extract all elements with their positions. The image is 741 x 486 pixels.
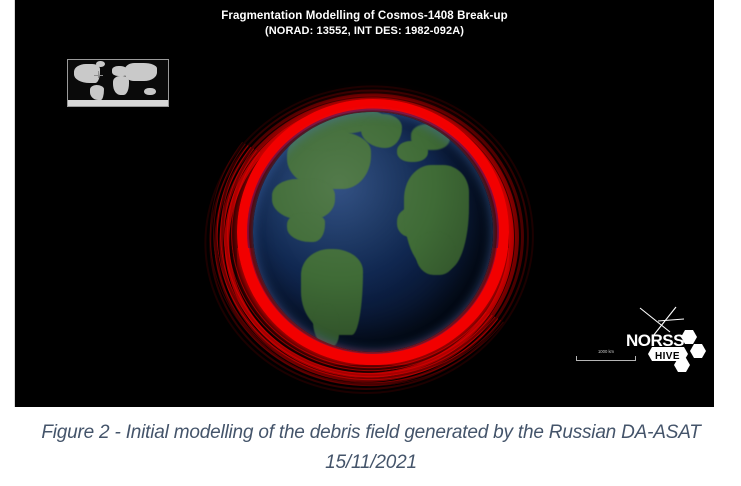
figure-page: Fragmentation Modelling of Cosmos-1408 B… [0, 0, 741, 486]
world-map-frame [67, 59, 169, 107]
visualization-panel: Fragmentation Modelling of Cosmos-1408 B… [14, 0, 714, 407]
title-line-1: Fragmentation Modelling of Cosmos-1408 B… [15, 9, 714, 24]
logo-artwork: NORSS HIVE [622, 306, 714, 380]
chart-title: Fragmentation Modelling of Cosmos-1408 B… [15, 9, 714, 39]
logo-primary-text: NORSS [626, 331, 684, 350]
landmass-australia [144, 88, 156, 96]
globe-visualization [193, 58, 553, 406]
landmass-antarctica [68, 100, 168, 106]
title-line-2: (NORAD: 13552, INT DES: 1982-092A) [15, 24, 714, 39]
world-map-inset [61, 54, 175, 112]
figure-caption: Figure 2 - Initial modelling of the debr… [18, 418, 724, 478]
landmass-south-america [90, 85, 104, 101]
norss-hive-logo: NORSS HIVE [622, 306, 714, 380]
logo-secondary-text: HIVE [655, 351, 680, 362]
landmass-asia [125, 63, 157, 81]
landmass-north-america [74, 64, 100, 83]
map-crosshair-horizontal [94, 75, 103, 76]
